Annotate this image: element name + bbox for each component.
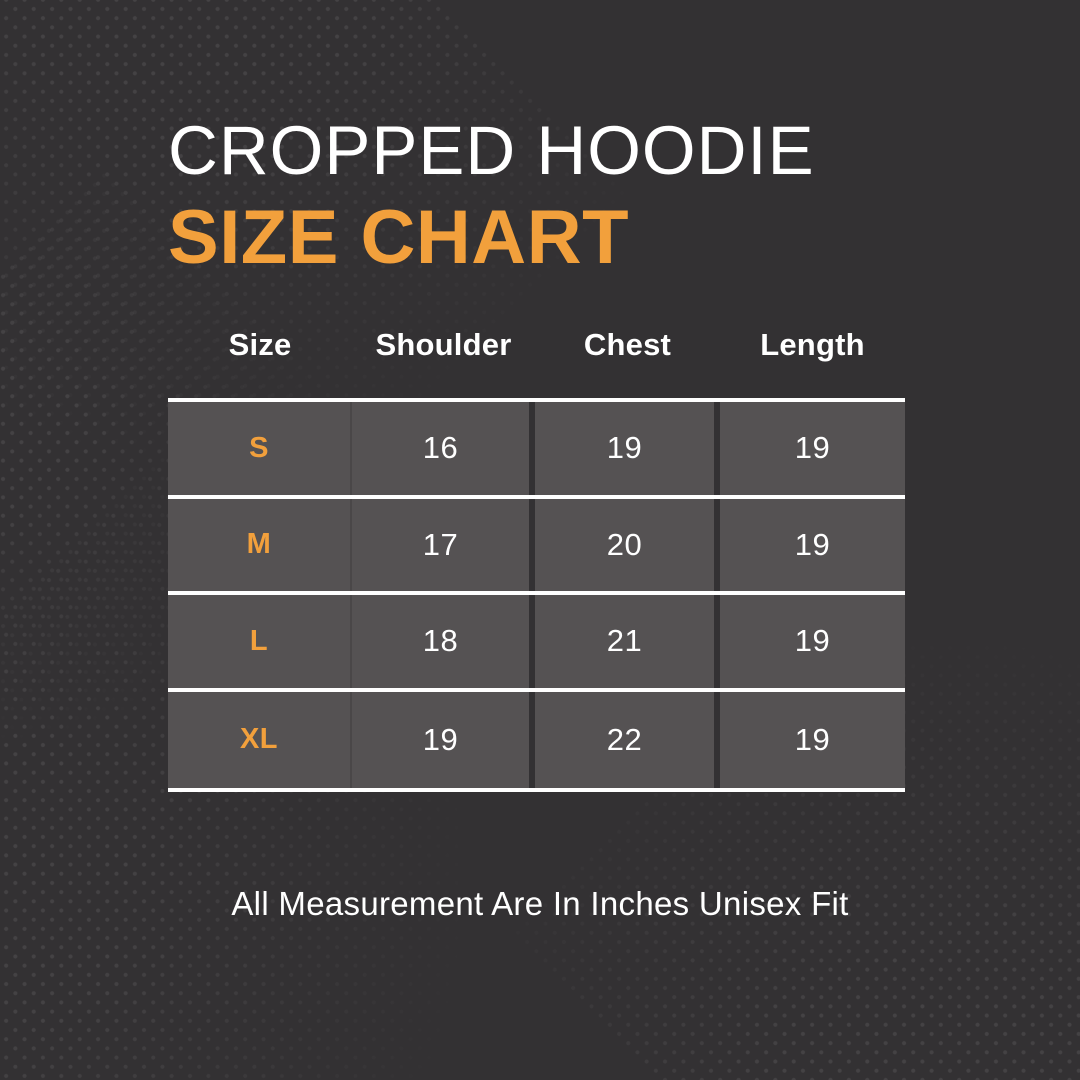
- cell-size: XL: [168, 692, 352, 789]
- cell-length: 19: [720, 595, 905, 688]
- column-header-length: Length: [720, 327, 905, 363]
- cell-shoulder: 18: [352, 595, 535, 688]
- page-title: CROPPED HOODIE SIZE CHART: [168, 112, 815, 280]
- product-name-title: CROPPED HOODIE: [168, 112, 815, 190]
- cell-chest: 19: [535, 402, 720, 495]
- cell-size: M: [168, 499, 352, 592]
- column-header-chest: Chest: [535, 327, 720, 363]
- size-chart-title: SIZE CHART: [168, 196, 815, 280]
- measurement-note: All Measurement Are In Inches Unisex Fit: [0, 885, 1080, 923]
- size-chart-table: Size Shoulder Chest Length S 16 19 19 M …: [168, 314, 905, 792]
- table-body: S 16 19 19 M 17 20 19 L 18 21 19 XL 19 2…: [168, 398, 905, 792]
- table-row: S 16 19 19: [168, 402, 905, 499]
- table-row: XL 19 22 19: [168, 692, 905, 789]
- cell-length: 19: [720, 402, 905, 495]
- table-header-row: Size Shoulder Chest Length: [168, 314, 905, 376]
- cell-chest: 21: [535, 595, 720, 688]
- cell-shoulder: 17: [352, 499, 535, 592]
- cell-shoulder: 19: [352, 692, 535, 789]
- cell-length: 19: [720, 692, 905, 789]
- column-header-size: Size: [168, 327, 352, 363]
- cell-size: S: [168, 402, 352, 495]
- table-row: M 17 20 19: [168, 499, 905, 596]
- column-header-shoulder: Shoulder: [352, 327, 535, 363]
- cell-size: L: [168, 595, 352, 688]
- cell-chest: 22: [535, 692, 720, 789]
- size-chart-poster: CROPPED HOODIE SIZE CHART Size Shoulder …: [0, 0, 1080, 1080]
- cell-shoulder: 16: [352, 402, 535, 495]
- table-row: L 18 21 19: [168, 595, 905, 692]
- cell-length: 19: [720, 499, 905, 592]
- cell-chest: 20: [535, 499, 720, 592]
